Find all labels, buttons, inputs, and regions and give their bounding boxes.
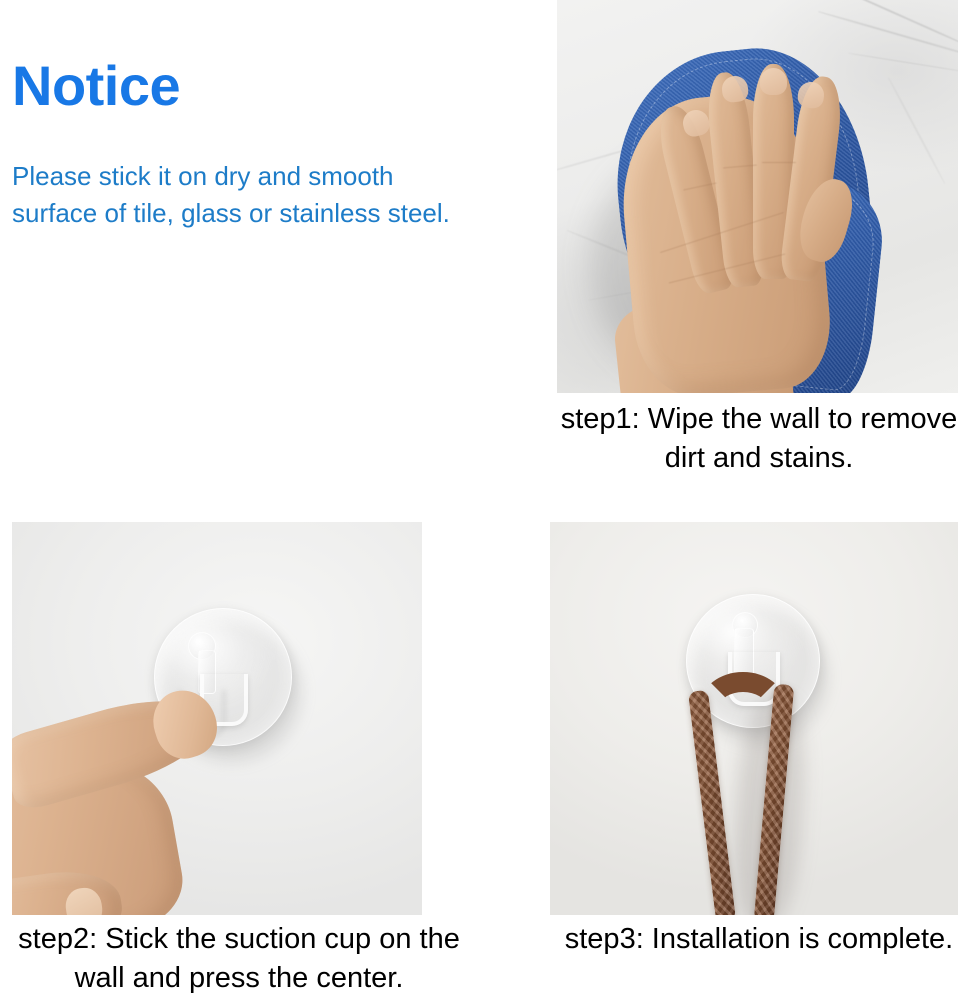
notice-title: Notice <box>12 58 532 114</box>
step2-caption: step2: Stick the suction cup on the wall… <box>4 920 474 997</box>
step3-caption: step3: Installation is complete. <box>548 920 970 959</box>
step3-photo <box>550 522 958 915</box>
step2-scene <box>12 522 422 915</box>
infographic-page: Notice Please stick it on dry and smooth… <box>0 0 970 997</box>
step1-scene <box>557 0 958 393</box>
step3-scene <box>550 522 958 915</box>
notice-body-text: Please stick it on dry and smooth surfac… <box>12 158 482 232</box>
fingernail <box>760 68 787 95</box>
step1-photo <box>557 0 958 393</box>
step2-photo <box>12 522 422 915</box>
step1-caption: step1: Wipe the wall to remove dirt and … <box>548 400 970 477</box>
leather-strap-loop-shading <box>700 672 786 740</box>
notice-block: Notice Please stick it on dry and smooth… <box>12 58 532 232</box>
